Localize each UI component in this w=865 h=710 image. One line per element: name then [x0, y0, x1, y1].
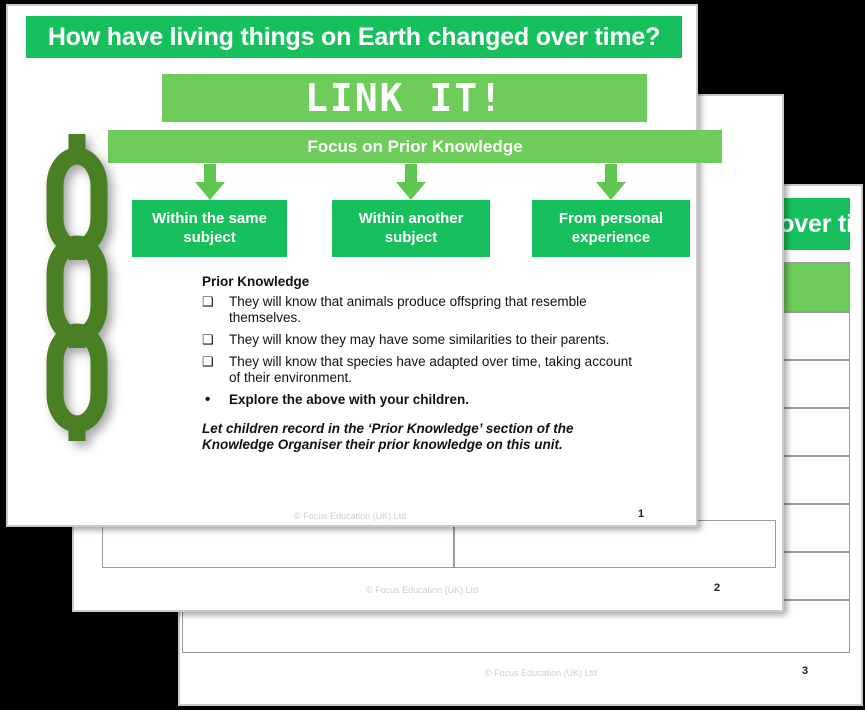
- chain-links-icon: [38, 134, 116, 441]
- category-box-from-personal-experience: From personal experience: [532, 200, 690, 257]
- footer-page-number: 1: [638, 508, 644, 520]
- slide-card-1[interactable]: How have living things on Earth changed …: [6, 4, 698, 527]
- footer-page-number: 2: [714, 582, 720, 594]
- list-item-text: They will know that species have adapted…: [229, 354, 632, 385]
- prior-knowledge-note: Let children record in the ‘Prior Knowle…: [202, 421, 642, 453]
- list-item-text: They will know that animals produce offs…: [229, 294, 587, 325]
- category-box-within-another-subject: Within another subject: [332, 200, 490, 257]
- focus-on-prior-knowledge-banner: Focus on Prior Knowledge: [108, 130, 722, 163]
- prior-knowledge-block: Prior Knowledge ❑ They will know that an…: [202, 274, 642, 453]
- list-item: • Explore the above with your children.: [202, 392, 642, 408]
- dot-bullet-icon: •: [205, 391, 210, 409]
- footer-copyright: © Focus Education (UK) Ltd: [366, 585, 478, 595]
- category-box-within-same-subject: Within the same subject: [132, 200, 287, 257]
- link-it-banner: LINK IT!: [162, 74, 647, 122]
- slide-1-title: How have living things on Earth changed …: [26, 16, 682, 58]
- list-item: ❑ They will know they may have some simi…: [202, 332, 642, 348]
- table-row: [102, 520, 454, 568]
- down-arrow-icon: [596, 164, 626, 200]
- prior-knowledge-heading: Prior Knowledge: [202, 274, 642, 289]
- footer-copyright: © Focus Education (UK) Ltd: [294, 511, 406, 521]
- list-item: ❑ They will know that species have adapt…: [202, 354, 642, 386]
- down-arrow-icon: [195, 164, 225, 200]
- table-row: [454, 520, 776, 568]
- list-item-text: Explore the above with your children.: [229, 392, 469, 407]
- checkbox-bullet-icon: ❑: [202, 332, 214, 347]
- list-item: ❑ They will know that animals produce of…: [202, 294, 642, 326]
- footer-page-number: 3: [802, 665, 808, 677]
- slide-deck-stage: How have living things on Earth changed …: [0, 0, 865, 710]
- checkbox-bullet-icon: ❑: [202, 294, 214, 309]
- footer-copyright: © Focus Education (UK) Ltd: [485, 668, 597, 678]
- down-arrow-icon: [396, 164, 426, 200]
- checkbox-bullet-icon: ❑: [202, 354, 214, 369]
- list-item-text: They will know they may have some simila…: [229, 332, 609, 347]
